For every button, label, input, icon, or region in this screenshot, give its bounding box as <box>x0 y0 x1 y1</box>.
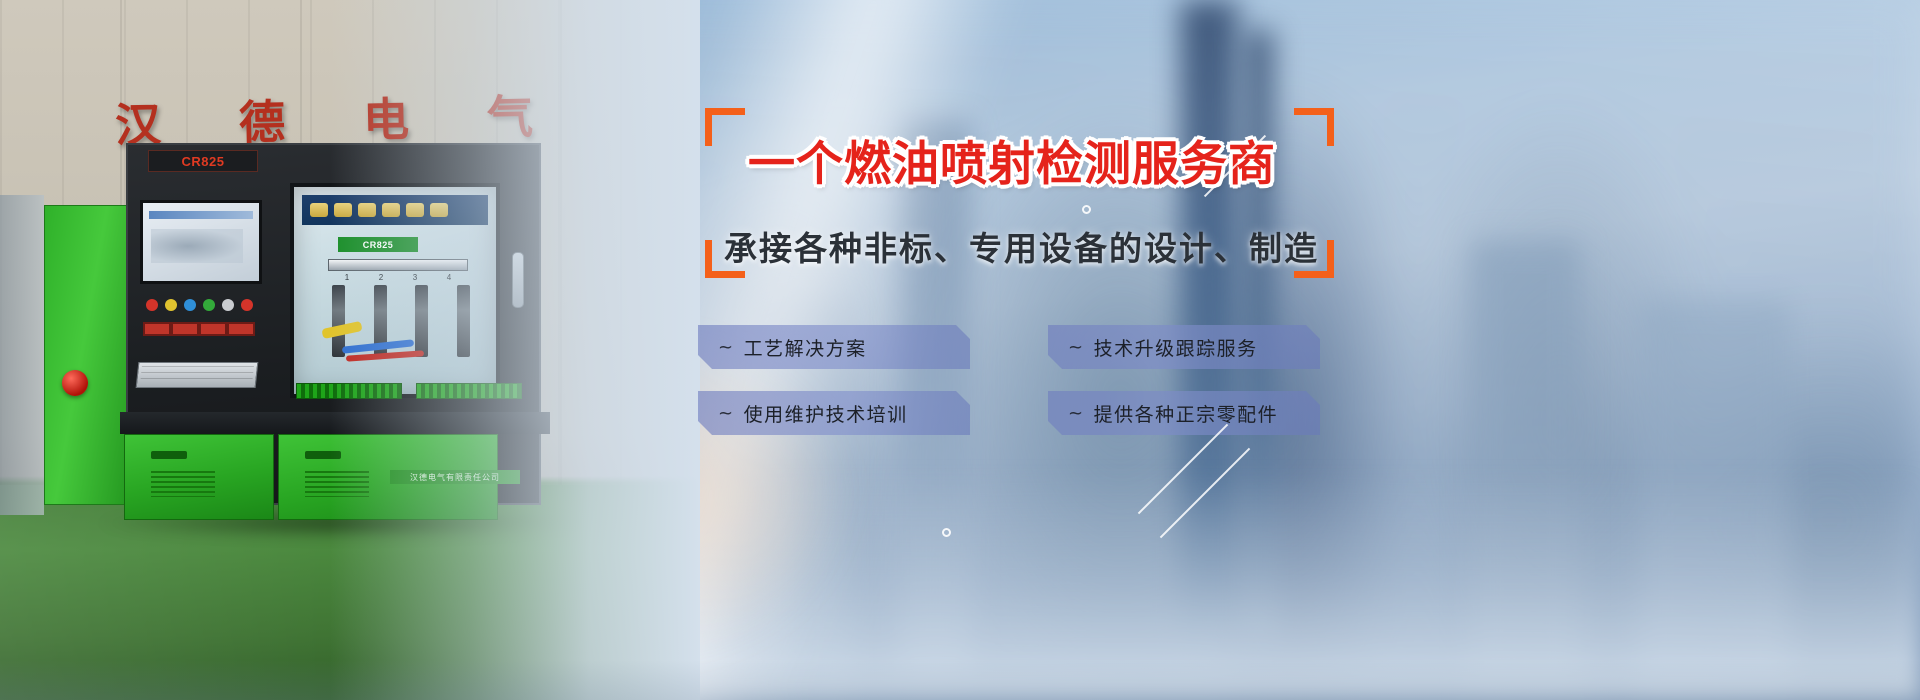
machine-model-label: CR825 <box>148 150 258 172</box>
machine-button-white <box>222 299 234 311</box>
workshop-side-equipment <box>0 195 44 515</box>
feature-tag-label: 使用维护技术培训 <box>744 400 908 427</box>
hero-banner: 汉 德 电 气 CR825 <box>0 0 1920 700</box>
tilde-icon: ~ <box>1068 403 1085 424</box>
machine-indicator-strip <box>143 322 255 336</box>
machine-green-panel-left <box>44 205 132 505</box>
machine-display-screen <box>140 200 262 284</box>
tilde-icon: ~ <box>718 337 735 358</box>
feature-tag[interactable]: ~ 技术升级跟踪服务 <box>1048 325 1320 369</box>
hero-subheadline: 承接各种非标、专用设备的设计、制造 <box>724 222 1364 270</box>
feature-tag-label: 工艺解决方案 <box>744 334 867 361</box>
hero-content: 一个燃油喷射检测服务商 承接各种非标、专用设备的设计、制造 ~ 工艺解决方案 ~… <box>690 0 1920 700</box>
drawer-latch <box>151 451 187 459</box>
machine-button-red <box>241 299 253 311</box>
feature-tag-label: 技术升级跟踪服务 <box>1094 334 1258 361</box>
feature-tag-label: 提供各种正宗零配件 <box>1094 400 1279 427</box>
machine-keyboard <box>136 362 259 388</box>
feature-tag[interactable]: ~ 提供各种正宗零配件 <box>1048 391 1320 435</box>
decorative-ring-icon <box>942 528 951 537</box>
tilde-icon: ~ <box>1068 337 1085 358</box>
product-photo: 汉 德 电 气 CR825 <box>0 0 700 700</box>
drawer-grille <box>151 471 215 497</box>
feature-tag-list: ~ 工艺解决方案 ~ 技术升级跟踪服务 ~ 使用维护技术培训 ~ 提供各种正宗零… <box>698 325 1320 435</box>
tilde-icon: ~ <box>718 403 735 424</box>
machine-button-blue <box>184 299 196 311</box>
feature-tag[interactable]: ~ 使用维护技术培训 <box>698 391 970 435</box>
feature-tag[interactable]: ~ 工艺解决方案 <box>698 325 970 369</box>
photo-blend-gradient <box>330 0 700 700</box>
machine-button-red <box>146 299 158 311</box>
machine-drawer-left <box>124 434 274 520</box>
corner-bracket-top-left-icon <box>705 108 745 146</box>
decorative-ring-icon <box>1082 205 1091 214</box>
machine-button-green <box>203 299 215 311</box>
machine-button-yellow <box>165 299 177 311</box>
hero-headline: 一个燃油喷射检测服务商 <box>748 140 1348 191</box>
machine-button-row <box>146 296 254 314</box>
emergency-stop-button-icon <box>62 370 88 396</box>
